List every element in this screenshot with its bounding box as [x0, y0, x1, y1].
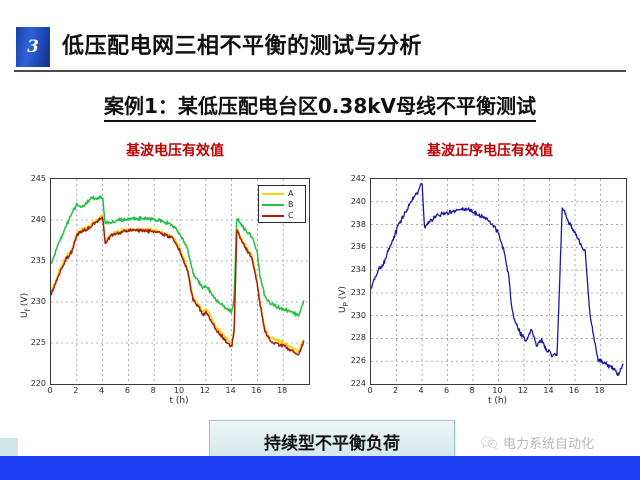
chart-positive-sequence-voltage: 224226228230232234236238240242 024681012… [330, 168, 630, 408]
chart-legend-left: ABC [258, 185, 306, 223]
y-tick-label: 226 [336, 356, 366, 365]
footer-accent-tile [0, 438, 18, 456]
legend-swatch [262, 215, 284, 217]
y-tick-label: 235 [16, 256, 46, 265]
legend-item: A [261, 188, 303, 199]
plot-area-right [370, 178, 627, 385]
x-tick-label: 14 [222, 386, 240, 395]
chart-fundamental-voltage-rms: ABC 220225230235240245 024681012141618 t… [14, 168, 314, 408]
chart-caption-left: 基波电压有效值 [60, 140, 290, 160]
y-tick-label: 234 [336, 265, 366, 274]
x-tick-label: 2 [67, 386, 85, 395]
x-tick-label: 0 [41, 386, 59, 395]
wechat-icon [481, 436, 498, 450]
x-tick-label: 12 [514, 386, 532, 395]
x-tick-label: 8 [463, 386, 481, 395]
wechat-account-name: 电力系统自动化 [503, 433, 594, 452]
x-tick-label: 4 [93, 386, 111, 395]
x-tick-label: 6 [118, 386, 136, 395]
line-chart-right [371, 179, 626, 384]
y-tick-label: 240 [16, 215, 46, 224]
y-axis-title-left: Uf (V) [20, 293, 32, 318]
y-tick-label: 225 [16, 338, 46, 347]
legend-label: A [288, 188, 293, 199]
legend-item: B [261, 199, 303, 210]
x-axis-title-right: t (h) [370, 396, 625, 406]
x-tick-label: 12 [196, 386, 214, 395]
y-tick-label: 242 [336, 174, 366, 183]
x-axis-title-left: t (h) [50, 396, 308, 406]
y-tick-label: 238 [336, 220, 366, 229]
legend-item: C [261, 210, 303, 221]
legend-swatch [262, 193, 284, 195]
x-tick-label: 2 [387, 386, 405, 395]
legend-swatch [262, 204, 284, 206]
section-number-badge: 3 [16, 27, 50, 67]
x-tick-label: 18 [273, 386, 291, 395]
x-tick-label: 8 [144, 386, 162, 395]
x-tick-label: 18 [591, 386, 609, 395]
x-tick-label: 16 [247, 386, 265, 395]
plot-area-left: ABC [50, 178, 310, 385]
legend-label: B [288, 199, 294, 210]
x-tick-label: 14 [540, 386, 558, 395]
x-tick-label: 10 [489, 386, 507, 395]
legend-label: C [288, 210, 294, 221]
y-tick-label: 236 [336, 242, 366, 251]
header-divider [14, 70, 626, 72]
y-axis-title-right: UP (V) [338, 286, 350, 313]
x-tick-label: 0 [361, 386, 379, 395]
x-tick-label: 4 [412, 386, 430, 395]
case-subtitle-text: 案例1：某低压配电台区0.38kV母线不平衡测试 [104, 94, 536, 122]
case-subtitle: 案例1：某低压配电台区0.38kV母线不平衡测试 [0, 90, 640, 119]
chart-caption-right: 基波正序电压有效值 [375, 140, 605, 160]
y-tick-label: 245 [16, 174, 46, 183]
x-tick-label: 6 [438, 386, 456, 395]
wechat-account-tag: 电力系统自动化 [481, 433, 594, 452]
page-title: 低压配电网三相不平衡的测试与分析 [62, 28, 422, 60]
x-tick-label: 16 [565, 386, 583, 395]
y-tick-label: 240 [336, 197, 366, 206]
slide-header: 3 低压配电网三相不平衡的测试与分析 [0, 22, 640, 74]
y-tick-label: 228 [336, 333, 366, 342]
x-tick-label: 10 [170, 386, 188, 395]
footer-bar [0, 456, 640, 480]
